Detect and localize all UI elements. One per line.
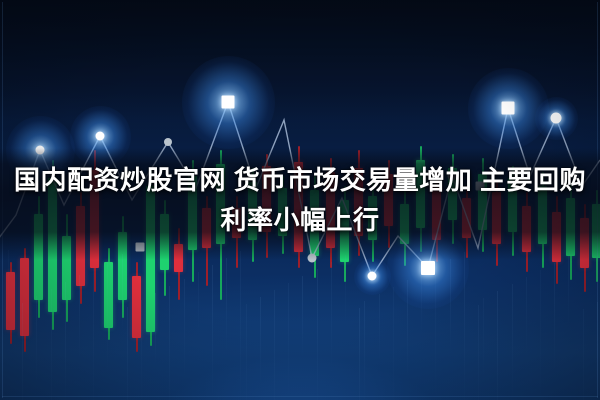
banner-image: 国内配资炒股官网 货币市场交易量增加 主要回购 利率小幅上行 (0, 0, 600, 400)
frame-border-bottom (2, 396, 598, 397)
page-title: 国内配资炒股官网 货币市场交易量增加 主要回购 利率小幅上行 (0, 160, 600, 240)
